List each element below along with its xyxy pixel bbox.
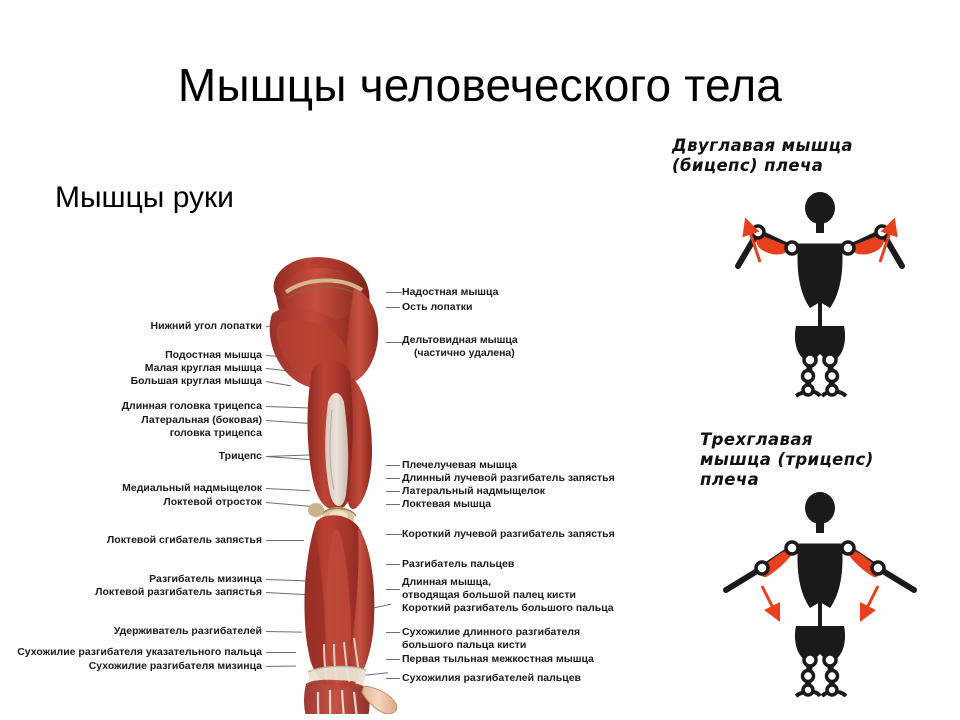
anatomy-label-korotkiy-razgibatel-bolshogo-palca: Короткий разгибатель большого пальца	[402, 602, 614, 615]
anatomy-label-bolshaya-kruglaya-myshca: Большая круглая мышца	[131, 375, 262, 388]
anatomy-label-uderzhivatel-razgibateley: Удерживатель разгибателей	[114, 625, 262, 638]
skeleton-caption-triceps: Трехглавая мышца (трицепс) плеча	[700, 430, 874, 490]
anatomy-label-suhozhilie-razgibatelya-ukazatelnogo-palca: Сухожилие разгибателя указательного паль…	[17, 646, 262, 659]
anatomy-label-chastichno-udalena: (частично удалена)	[414, 347, 515, 360]
anatomy-label-lateralnaya-bokovaya: Латеральная (боковая)	[141, 414, 262, 427]
page-title: Мышцы человеческого тела	[0, 58, 960, 112]
anatomy-label-suhozhilie-dlinnogo-razgibatelya: Сухожилие длинного разгибателя	[402, 626, 580, 639]
anatomy-label-triceps: Трицепс	[219, 450, 262, 463]
arm-anatomy-illustration	[258, 252, 416, 714]
anatomy-label-otvodyashchaya-bolshoy-palec-kisti: отводящая большой палец кисти	[402, 589, 576, 602]
anatomy-label-loktevoy-sgibatel-zapyastya: Локтевой сгибатель запястья	[107, 534, 262, 547]
anatomy-label-suhozhiliya-razgibateley-palcev: Сухожилия разгибателей пальцев	[402, 672, 581, 685]
anatomy-label-korotkiy-lucevoy-razgibatel-zapyastya: Короткий лучевой разгибатель запястья	[402, 528, 615, 541]
anatomy-label-nizhniy-ugol-lopatki: Нижний угол лопатки	[151, 320, 262, 333]
anatomy-label-razgibatel-mizinca: Разгибатель мизинца	[149, 573, 262, 586]
anatomy-label-deltovidnaya-myshca: Дельтовидная мышца	[402, 334, 518, 347]
anatomy-label-pervaya-tylnaya-mezhkostnaya-myshca: Первая тыльная межкостная мышца	[402, 653, 594, 666]
anatomy-label-razgibatel-palcev: Разгибатель пальцев	[402, 558, 514, 571]
anatomy-label-lateralnyy-nadmyshchelok: Латеральный надмыщелок	[402, 485, 545, 498]
anatomy-label-loktevoy-otrostok: Локтевой отросток	[163, 496, 262, 509]
anatomy-label-podostnaya-myshca: Подостная мышца	[165, 349, 262, 362]
slide-canvas: Мышцы человеческого тела Мышцы руки Нижн…	[0, 0, 960, 720]
anatomy-label-plechelucevaya-myshca: Плечелучевая мышца	[402, 459, 517, 472]
skeleton-caption-biceps: Двуглавая мышца (бицепс) плеча	[672, 136, 853, 176]
section-subtitle: Мышцы руки	[55, 181, 234, 215]
anatomy-label-medialnyy-nadmyshchelok: Медиальный надмыщелок	[122, 482, 262, 495]
anatomy-label-dlinnaya-golovka-tricepsa: Длинная головка трицепса	[122, 400, 262, 413]
skeleton-figure-triceps	[700, 490, 940, 700]
anatomy-label-suhozhilie-razgibatelya-mizinca: Сухожилие разгибателя мизинца	[89, 660, 262, 673]
anatomy-label-malaya-kruglaya-myshca: Малая круглая мышца	[145, 362, 262, 375]
skeleton-figure-biceps	[700, 190, 940, 400]
anatomy-label-bolshogo-palca-kisti: большого пальца кисти	[402, 639, 526, 652]
anatomy-label-golovka-tricepsa: головка трицепса	[170, 427, 262, 440]
anatomy-label-dlinnyy-lucevoy-razgibatel-zapyastya: Длинный лучевой разгибатель запястья	[402, 472, 615, 485]
anatomy-label-loktevoy-razgibatel-zapyastya: Локтевой разгибатель запястья	[95, 586, 262, 599]
anatomy-label-nadostnaya-myshca: Надостная мышца	[402, 286, 498, 299]
